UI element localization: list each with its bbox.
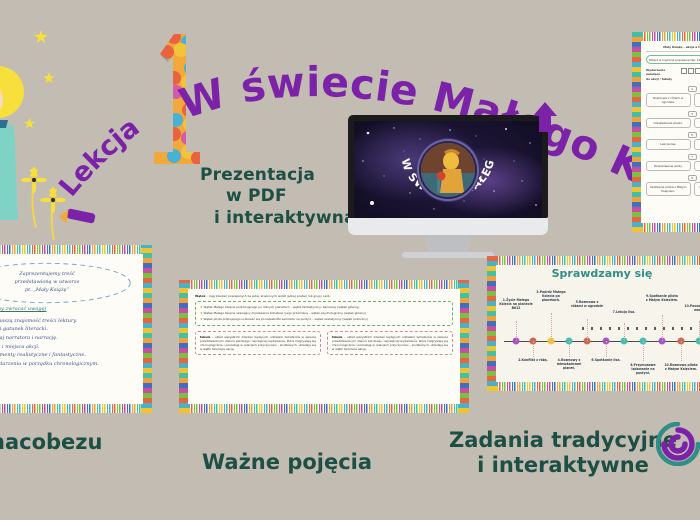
form-title: Mały Książę - akcja a fabuła - odp… <box>646 45 700 52</box>
timeline-label: 9.Spotkanie pilota z Małym Księciem. <box>645 295 679 303</box>
form-row-left[interactable]: Odnalezienie studni. <box>646 118 691 128</box>
term-fabula-definition: – układ wszystkich zdarzeń będących udzi… <box>200 335 316 351</box>
fabula-box-right: fabuła – układ wszystkich zdarzeń będący… <box>327 331 453 356</box>
form-row-left[interactable]: Spotkanie pilota z Małym Księciem. <box>646 182 691 196</box>
watek-bullet: Wątek pilota próbującego uratować się po… <box>204 317 369 321</box>
timeline-stem <box>551 313 552 341</box>
caption-cele-nacobezu: nacobezu <box>0 430 102 455</box>
timeline-label: 6.Spotkanie lisa. <box>589 359 623 363</box>
goals-bullet: Podamy rodzaj i gatunek literacki. <box>0 325 133 334</box>
format-info: Prezentacja w PDF i interaktywna <box>200 165 356 229</box>
form-row[interactable]: 1 Rozmowa z różami w ogrodzie. Konflikt … <box>646 86 700 107</box>
caption-pojecia-text: Ważne pojęcia <box>202 450 372 474</box>
form-row-num: 9 <box>688 175 697 181</box>
timeline-title: Sprawdzamy się <box>496 267 700 280</box>
cele-i-nacobezu-worksheet[interactable]: Zaprezentujemy treść przedstawioną w utw… <box>0 245 152 413</box>
wazne-pojecia-worksheet[interactable]: Wątek – ciąg zdarzeń powiązanych ze sobą… <box>179 280 469 413</box>
form-row-right[interactable]: Konflikt z… <box>694 93 700 107</box>
timeline-label: 5.Rozmowa z różami w ogrodzie <box>570 301 604 309</box>
goals-intro-3: pt. „Mały Książę” <box>0 286 133 294</box>
term-watek: Wątek <box>195 294 205 298</box>
caption-zadania-line-1: Zadania tradycyjne <box>449 428 677 453</box>
form-row-left[interactable]: Rozmowa z różami w ogrodzie. <box>646 93 691 107</box>
fabula-box-left: fabuła – układ wszystkich zdarzeń będący… <box>195 331 321 356</box>
watek-bullet: Wątek Małego Księcia ukazujący dojrzewan… <box>204 311 367 315</box>
term-fabula-definition: – układ wszystkich zdarzeń będących udzi… <box>332 335 448 351</box>
watek-bullet: Wątek Małego Księcia podróżującego po ró… <box>204 305 360 309</box>
monitor-neck <box>427 235 469 252</box>
poster-canvas: W świecie Małego Księcia Lekcja Prezenta… <box>0 0 700 520</box>
timeline-label: 8.Przymusowe lądowanie na pustyni. <box>626 364 660 376</box>
goals-intro-2: przedstawioną w utworze <box>0 278 133 286</box>
caption-cele-text: nacobezu <box>0 430 102 454</box>
timeline-label: 4.Rozmowy z mieszkańcami planet. <box>552 359 586 371</box>
timeline-label: 2.Konflikt z różą. <box>516 359 550 363</box>
caption-zadania: Zadania tradycyjne i interaktywne <box>449 428 677 478</box>
goals-intro-1: Zaprezentujemy treść <box>0 270 133 278</box>
timeline-stem <box>606 341 607 357</box>
timeline-stem <box>587 319 588 341</box>
timeline-label: 3.Podróż Małego Księcia po planetach. <box>534 291 568 303</box>
monitor-screen[interactable]: W ŚWIECIE MAŁEGO KSIĘCIA <box>354 121 542 218</box>
timeline-label: 1.Życie Małego Księcia na planecie B612 <box>499 299 533 311</box>
sprawdzamy-sie-worksheet[interactable]: Sprawdzamy się <box>487 256 700 391</box>
timeline-stem <box>569 341 570 357</box>
timeline-stem <box>533 341 534 357</box>
form-row[interactable]: 9 Spotkanie pilota z Małym Księciem. Roz… <box>646 175 700 196</box>
format-line-3: i interaktywna <box>200 208 356 229</box>
form-row-right[interactable]: Pompow… Małym K… <box>694 161 700 171</box>
monitor-foot <box>402 252 494 258</box>
karta-pracy-worksheet[interactable]: Mały Książę - akcja a fabuła - odp… Połą… <box>632 32 700 232</box>
pencil-decor-icon <box>57 205 97 227</box>
timeline-label: 10.Rozmowa pilota z Małym Księciem. <box>664 364 698 372</box>
arrow-decor-icon <box>530 100 560 134</box>
goals-bullet: Określimy rodzaj narratora i narrację. <box>0 334 133 343</box>
goals-bullet: Przedstawimy naszą znajomość treści lekt… <box>0 317 133 326</box>
svg-text:Lekcja: Lekcja <box>53 112 145 203</box>
form-row[interactable]: 3 Odnalezienie studni. Pragnien… lgnącem… <box>646 111 700 128</box>
goals-bullet: Wymienimy wydarzenia w porządku chronolo… <box>0 360 133 369</box>
form-row-num: 7 <box>688 154 697 160</box>
monitor-bezel: W ŚWIECIE MAŁEGO KSIĘCIA <box>348 115 548 218</box>
form-row-right[interactable]: Sportowa… <box>694 139 700 149</box>
term-watek-definition: – ciąg zdarzeń powiązanych ze sobą, skup… <box>206 294 330 298</box>
caption-zadania-line-2: i interaktywne <box>449 453 677 478</box>
timeline-stem <box>516 321 517 341</box>
timeline-dotted-row <box>582 327 692 330</box>
monitor-chin <box>348 218 548 235</box>
timeline-label: 7.Lekcja lisa. <box>607 311 641 315</box>
form-row-left[interactable]: Poszukiwanie wody. <box>646 161 691 171</box>
form-left-label-3: do akcji / fabuły <box>646 77 678 81</box>
form-row[interactable]: 5 Lekcja lisa. Sportowa… <box>646 132 700 149</box>
format-line-1: Prezentacja <box>200 165 356 186</box>
timeline-label: 10.Poszukiwanie wody. <box>682 305 700 313</box>
form-row-num: 1 <box>688 86 697 92</box>
timeline-stem <box>681 341 682 361</box>
form-note: Połącz w logiczne poprawne tak, bla… <box>646 55 700 64</box>
goals-subhead: ( na co będziemy zwracać uwagę) <box>0 306 133 314</box>
timeline-stem <box>643 341 644 361</box>
timeline-stem <box>624 323 625 341</box>
goals-bullet: Wymienimy elementy realistyczne i fantas… <box>0 351 133 360</box>
caption-wazne-pojecia: Ważne pojęcia <box>202 450 372 475</box>
form-row-right[interactable]: Rozmow… mieszkań… <box>694 182 700 196</box>
imac-monitor: W ŚWIECIE MAŁEGO KSIĘCIA <box>348 115 548 258</box>
lesson-label-text: Lekcja <box>53 112 145 203</box>
goals-bullet: Wskażemy czas i miejsca akcji. <box>0 343 133 352</box>
format-line-2: w PDF <box>200 186 356 207</box>
form-row-right[interactable]: Pragnien… lgnącem… <box>694 118 700 128</box>
form-row-left[interactable]: Lekcja lisa. <box>646 139 691 149</box>
prince-badge-icon <box>421 143 475 197</box>
form-row-num: 3 <box>688 111 697 117</box>
form-row-num: 5 <box>688 132 697 138</box>
swirl-logo-icon <box>656 422 700 466</box>
form-row[interactable]: 7 Poszukiwanie wody. Pompow… Małym K… <box>646 154 700 171</box>
timeline-stem <box>662 315 663 341</box>
